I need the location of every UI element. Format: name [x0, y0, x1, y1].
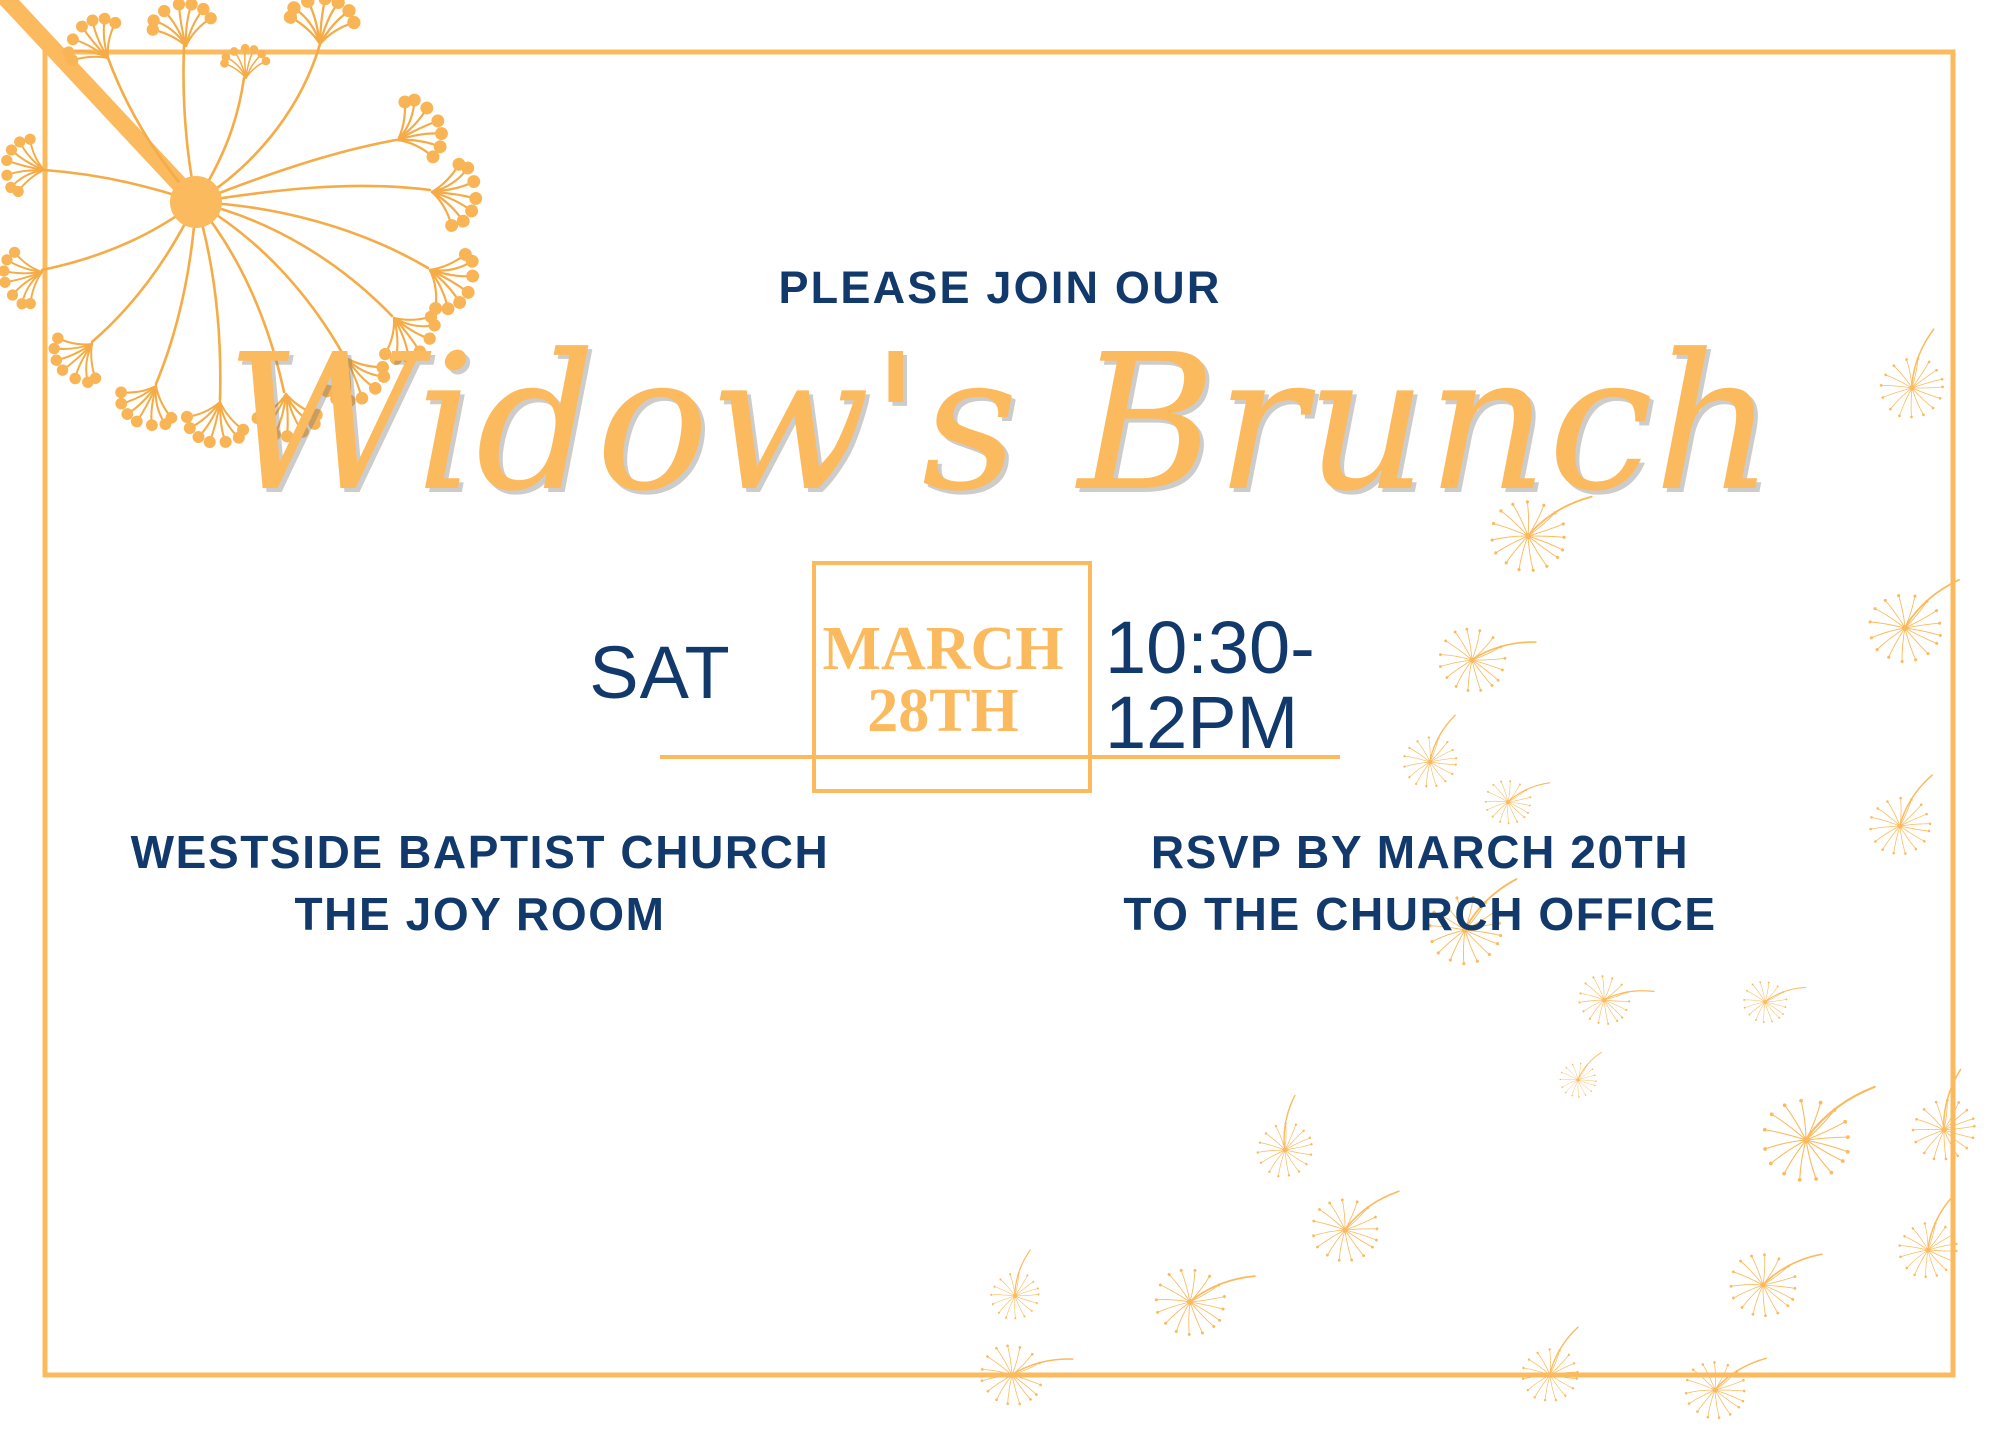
time-start: 10:30-: [1105, 610, 1405, 685]
venue-room: THE JOY ROOM: [100, 884, 860, 946]
weekday-label: SAT: [560, 630, 760, 715]
time-end: 12PM: [1105, 685, 1405, 760]
rsvp-deadline: RSVP BY MARCH 20TH: [1020, 822, 1820, 884]
rsvp-block: RSVP BY MARCH 20TH TO THE CHURCH OFFICE: [1020, 822, 1820, 945]
month-label: MARCH: [818, 618, 1068, 680]
invitation-card: PLEASE JOIN OUR Widow's Brunch SAT MARCH…: [0, 0, 2000, 1429]
venue-name: WESTSIDE BAPTIST CHURCH: [100, 822, 860, 884]
time-label: 10:30- 12PM: [1105, 610, 1405, 761]
date-time-band: SAT MARCH 28TH 10:30- 12PM: [0, 548, 2000, 818]
rsvp-contact: TO THE CHURCH OFFICE: [1020, 884, 1820, 946]
page-title: Widow's Brunch: [0, 330, 2000, 518]
venue-block: WESTSIDE BAPTIST CHURCH THE JOY ROOM: [100, 822, 860, 945]
day-label: 28TH: [818, 680, 1068, 742]
date-label: MARCH 28TH: [818, 618, 1068, 742]
eyebrow-text: PLEASE JOIN OUR: [0, 262, 2000, 314]
